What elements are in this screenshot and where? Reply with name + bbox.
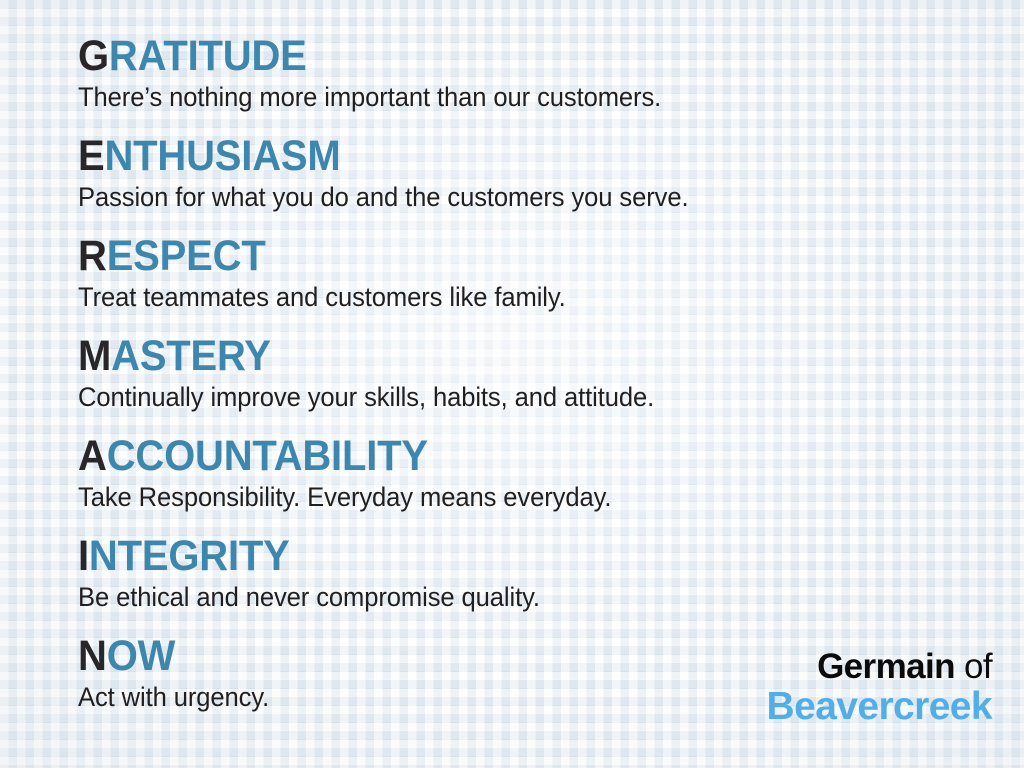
logo-brand-name: Germain [817,647,955,686]
value-initial-letter: R [78,232,107,280]
value-heading-gratitude: GRATITUDE [78,34,930,78]
value-initial-letter: E [78,132,104,180]
value-initial-letter: G [78,32,109,80]
value-remainder: ESPECT [107,232,266,280]
value-heading-integrity: INTEGRITY [78,534,930,578]
value-remainder: OW [107,632,175,680]
logo-connector-word: of [964,647,992,686]
value-remainder: ASTERY [111,332,271,380]
value-remainder: RATITUDE [109,32,307,80]
value-heading-enthusiasm: ENTHUSIASM [78,134,930,178]
value-description-respect: Treat teammates and customers like famil… [78,280,962,314]
value-block-enthusiasm: ENTHUSIASM Passion for what you do and t… [78,134,994,234]
value-block-gratitude: GRATITUDE There’s nothing more important… [78,34,994,134]
value-heading-accountability: ACCOUNTABILITY [78,434,930,478]
value-description-gratitude: There’s nothing more important than our … [78,80,962,114]
value-initial-letter: M [78,332,111,380]
value-description-mastery: Continually improve your skills, habits,… [78,380,962,414]
value-heading-mastery: MASTERY [78,334,930,378]
value-description-integrity: Be ethical and never compromise quality. [78,580,962,614]
value-initial-letter: I [78,532,89,580]
logo-connector [955,647,964,686]
value-block-integrity: INTEGRITY Be ethical and never compromis… [78,534,994,634]
value-initial-letter: A [78,432,107,480]
value-heading-respect: RESPECT [78,234,930,278]
value-description-accountability: Take Responsibility. Everyday means ever… [78,480,962,514]
value-remainder: CCOUNTABILITY [107,432,428,480]
value-remainder: NTEGRITY [89,532,290,580]
value-block-accountability: ACCOUNTABILITY Take Responsibility. Ever… [78,434,994,534]
dealership-logo: Germain of Beavercreek [767,648,992,728]
value-block-mastery: MASTERY Continually improve your skills,… [78,334,994,434]
value-block-respect: RESPECT Treat teammates and customers li… [78,234,994,334]
logo-brand-line: Germain of [767,648,992,686]
logo-location: Beavercreek [767,686,992,728]
value-initial-letter: N [78,632,107,680]
value-remainder: NTHUSIASM [104,132,340,180]
value-description-enthusiasm: Passion for what you do and the customer… [78,180,962,214]
poster-canvas: GRATITUDE There’s nothing more important… [0,0,1024,768]
